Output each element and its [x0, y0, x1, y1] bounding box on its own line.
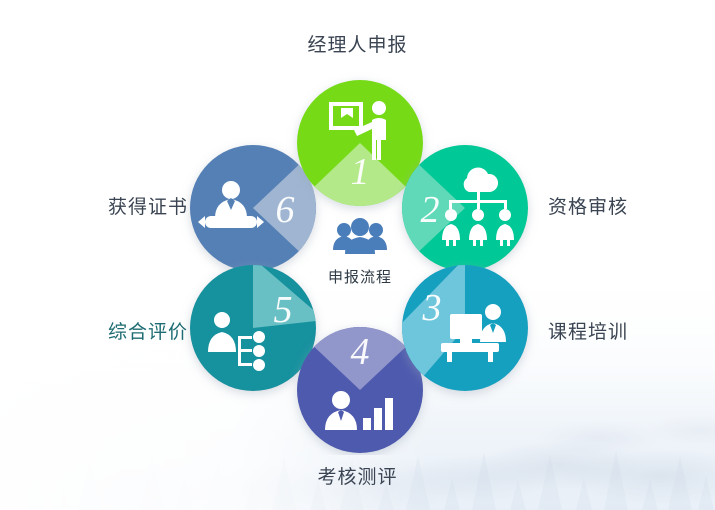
label-segment-4: 考核测评	[0, 462, 715, 489]
segment-2-number: 2	[421, 189, 440, 231]
center-label: 申报流程	[328, 266, 392, 287]
wheel-center-hub: 申报流程	[300, 218, 420, 306]
segment-5-number: 5	[274, 289, 293, 331]
segment-3-number: 3	[422, 287, 442, 329]
label-segment-1: 经理人申报	[0, 30, 715, 57]
label-segment-2: 资格审核	[548, 192, 628, 219]
segment-6-number: 6	[276, 189, 295, 231]
segment-1-number: 1	[351, 151, 370, 193]
label-segment-5: 综合评价	[68, 317, 188, 344]
label-segment-3: 课程培训	[548, 317, 628, 344]
infographic-canvas: 6 5	[0, 0, 715, 510]
label-segment-6: 获得证书	[68, 192, 188, 219]
segment-4-number: 4	[351, 331, 370, 373]
people-group-icon	[331, 218, 389, 262]
